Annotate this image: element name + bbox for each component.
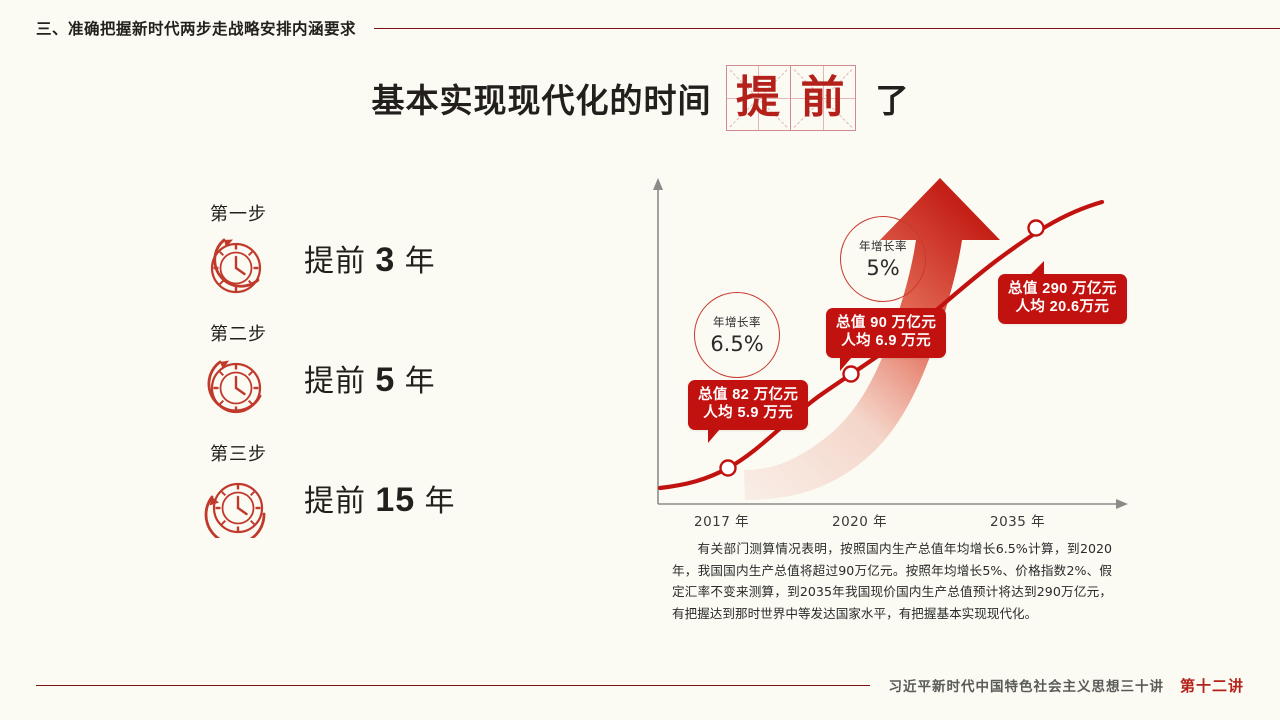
- step-text-2: 提前 5 年: [304, 356, 436, 400]
- seal-grid-cell: 前: [791, 66, 855, 130]
- step-years-2: 5: [375, 361, 395, 399]
- clock-rewind-icon: [196, 224, 280, 298]
- slide-header: 三、准确把握新时代两步走战略安排内涵要求: [36, 14, 1280, 42]
- callout-2035-line2: 人均 20.6万元: [1008, 298, 1117, 316]
- main-title-prefix: 基本实现现代化的时间: [372, 74, 712, 122]
- slide-footer: 习近平新时代中国特色社会主义思想三十讲 第十二讲: [36, 668, 1244, 702]
- x-axis-arrow: [1116, 499, 1128, 509]
- step-text-suffix-3: 年: [425, 485, 456, 518]
- step-item-2: 第二步: [196, 320, 526, 440]
- footer-divider: [36, 685, 870, 686]
- seal-character-1: 提: [736, 76, 780, 120]
- header-divider: [374, 28, 1280, 29]
- callout-2017-line1: 总值 82 万亿元: [698, 386, 798, 404]
- callout-2020-line1: 总值 90 万亿元: [836, 314, 936, 332]
- step-text-suffix-2: 年: [405, 365, 436, 398]
- growth-rate-caption-2: 年增长率: [859, 238, 907, 254]
- callout-2017: 总值 82 万亿元 人均 5.9 万元: [688, 380, 808, 430]
- y-axis-arrow: [653, 178, 663, 190]
- clock-rewind-icon: [196, 344, 280, 418]
- slide-root: 三、准确把握新时代两步走战略安排内涵要求 基本实现现代化的时间 提 前 了 第一…: [0, 0, 1280, 720]
- main-title-suffix: 了: [876, 74, 909, 122]
- description-paragraph: 有关部门测算情况表明，按照国内生产总值年均增长6.5%计算，到2020年，我国国…: [672, 538, 1112, 625]
- description-text: 有关部门测算情况表明，按照国内生产总值年均增长6.5%计算，到2020年，我国国…: [672, 541, 1112, 621]
- x-label-2017: 2017 年: [694, 510, 749, 530]
- callout-2020-line2: 人均 6.9 万元: [836, 332, 936, 350]
- growth-rate-circle-2: 年增长率 5%: [840, 216, 926, 302]
- seal-grid-cell: 提: [727, 66, 791, 130]
- callout-2035-line1: 总值 290 万亿元: [1008, 280, 1117, 298]
- step-label-3: 第三步: [210, 440, 267, 466]
- step-text-prefix-3: 提前: [304, 485, 366, 518]
- step-text-suffix-1: 年: [405, 245, 436, 278]
- callout-2020: 总值 90 万亿元 人均 6.9 万元: [826, 308, 946, 358]
- growth-rate-value-1: 6.5%: [710, 332, 763, 356]
- growth-rate-value-2: 5%: [866, 256, 899, 280]
- main-title: 基本实现现代化的时间 提 前 了: [0, 62, 1280, 134]
- growth-chart: 年增长率 6.5% 年增长率 5% 总值 82 万亿元 人均 5.9 万元 总值…: [640, 170, 1160, 540]
- footer-series-title: 习近平新时代中国特色社会主义思想三十讲: [888, 675, 1164, 695]
- step-item-1: 第一步: [196, 200, 526, 320]
- section-heading: 三、准确把握新时代两步走战略安排内涵要求: [36, 17, 356, 39]
- step-years-3: 15: [375, 481, 415, 519]
- step-text-prefix-2: 提前: [304, 365, 366, 398]
- footer-lesson-number: 第十二讲: [1180, 675, 1244, 696]
- x-label-2035: 2035 年: [990, 510, 1045, 530]
- callout-2035: 总值 290 万亿元 人均 20.6万元: [998, 274, 1127, 324]
- data-point-2017: [721, 461, 736, 476]
- step-text-1: 提前 3 年: [304, 236, 436, 280]
- step-label-2: 第二步: [210, 320, 267, 346]
- x-axis-labels: 2017 年 2020 年 2035 年: [640, 510, 1160, 536]
- x-label-2020: 2020 年: [832, 510, 887, 530]
- clock-rewind-icon: [196, 464, 280, 538]
- step-years-1: 3: [375, 241, 395, 279]
- steps-list: 第一步: [196, 200, 526, 560]
- growth-rate-caption-1: 年增长率: [713, 314, 761, 330]
- step-text-3: 提前 15 年: [304, 476, 456, 520]
- seal-character-2: 前: [801, 76, 845, 120]
- growth-rate-circle-1: 年增长率 6.5%: [694, 292, 780, 378]
- step-item-3: 第三步: [196, 440, 526, 560]
- data-point-2035: [1029, 221, 1044, 236]
- callout-2017-line2: 人均 5.9 万元: [698, 404, 798, 422]
- seal-grid-box: 提 前: [726, 65, 856, 131]
- step-text-prefix-1: 提前: [304, 245, 366, 278]
- step-label-1: 第一步: [210, 200, 267, 226]
